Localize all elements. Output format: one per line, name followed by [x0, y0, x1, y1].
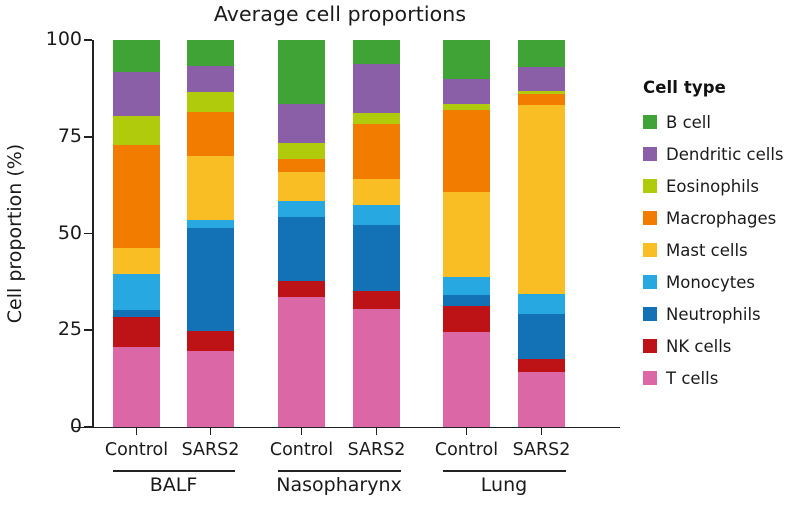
y-tick-label-wrap: 0 [0, 427, 82, 428]
bar-segment [187, 40, 234, 66]
x-tick-mark [210, 427, 212, 435]
stacked-bar [278, 40, 325, 427]
bar-segment [443, 79, 490, 104]
legend-item[interactable]: Mast cells [643, 234, 794, 266]
stacked-bar [443, 40, 490, 427]
bar-segment [353, 291, 400, 309]
bar-segment [353, 225, 400, 292]
bar-segment [278, 172, 325, 201]
x-tick-mark [376, 427, 378, 435]
bar-segment [113, 145, 160, 248]
bar-segment [443, 40, 490, 79]
y-tick-label: 0 [36, 417, 82, 436]
y-tick-label-wrap: 25 [0, 330, 82, 331]
bar-segment [518, 40, 565, 67]
bar-segment [443, 332, 490, 427]
legend-item-label: Macrophages [666, 209, 776, 228]
stacked-bar [187, 40, 234, 427]
bar-segment [113, 310, 160, 317]
x-tick-mark [136, 427, 138, 435]
bar-segment [113, 347, 160, 427]
bar-segment [353, 205, 400, 225]
legend-items: B cellDendritic cellsEosinophilsMacropha… [643, 106, 794, 394]
bar-segment [187, 156, 234, 220]
legend-swatch-icon [643, 275, 657, 289]
legend: Cell type B cellDendritic cellsEosinophi… [643, 78, 794, 394]
legend-item-label: B cell [666, 113, 711, 132]
bar-segment [443, 295, 490, 307]
y-tick-label: 50 [36, 224, 82, 243]
legend-item[interactable]: Neutrophils [643, 298, 794, 330]
bar-segment [353, 179, 400, 205]
bar-segment [278, 40, 325, 104]
legend-item-label: Eosinophils [666, 177, 759, 196]
bar-segment [113, 40, 160, 72]
bar-segment [278, 217, 325, 281]
legend-item-label: NK cells [666, 337, 731, 356]
group-label: Lung [404, 474, 604, 496]
stacked-bar [518, 40, 565, 427]
y-tick-mark [84, 136, 92, 138]
y-tick-mark [84, 233, 92, 235]
legend-swatch-icon [643, 339, 657, 353]
legend-swatch-icon [643, 147, 657, 161]
y-tick-mark [84, 426, 92, 428]
legend-item-label: T cells [666, 369, 718, 388]
legend-swatch-icon [643, 307, 657, 321]
legend-swatch-icon [643, 371, 657, 385]
group-rule [113, 470, 235, 472]
legend-swatch-icon [643, 179, 657, 193]
legend-item[interactable]: B cell [643, 106, 794, 138]
y-tick-label-wrap: 100 [0, 40, 82, 41]
x-tick-mark [301, 427, 303, 435]
group-rule [443, 470, 566, 472]
y-axis-line [92, 40, 94, 428]
bar-segment [278, 201, 325, 217]
bar-segment [278, 281, 325, 297]
bar-segment [187, 220, 234, 228]
legend-item[interactable]: Monocytes [643, 266, 794, 298]
legend-item-label: Mast cells [666, 241, 748, 260]
bar-segment [278, 297, 325, 427]
bar-segment [518, 294, 565, 313]
x-tick-mark [541, 427, 543, 435]
y-tick-mark [84, 329, 92, 331]
bar-segment [353, 113, 400, 125]
bar-segment [353, 309, 400, 427]
x-tick-mark [466, 427, 468, 435]
group-rule [278, 470, 401, 472]
y-tick-label-wrap: 50 [0, 234, 82, 235]
bar-segment [443, 110, 490, 192]
legend-item[interactable]: Dendritic cells [643, 138, 794, 170]
x-tick-label: SARS2 [487, 440, 597, 460]
legend-item[interactable]: Eosinophils [643, 170, 794, 202]
bar-segment [187, 351, 234, 427]
bar-segment [113, 72, 160, 116]
bar-segment [518, 359, 565, 373]
bar-segment [187, 112, 234, 156]
y-tick-label: 75 [36, 127, 82, 146]
legend-item[interactable]: NK cells [643, 330, 794, 362]
legend-swatch-icon [643, 115, 657, 129]
bar-segment [443, 192, 490, 278]
bar-segment [443, 306, 490, 331]
bar-segment [187, 66, 234, 92]
legend-swatch-icon [643, 243, 657, 257]
bar-segment [187, 331, 234, 351]
bar-segment [443, 277, 490, 295]
bar-segment [518, 314, 565, 359]
bar-segment [518, 94, 565, 106]
bar-segment [518, 105, 565, 294]
bar-segment [353, 64, 400, 113]
legend-item-label: Monocytes [666, 273, 755, 292]
legend-item-label: Dendritic cells [666, 145, 784, 164]
bar-segment [113, 248, 160, 275]
bar-segment [278, 143, 325, 159]
bar-segment [113, 274, 160, 309]
bar-segment [353, 40, 400, 64]
bar-segment [113, 317, 160, 347]
bar-segment [278, 159, 325, 173]
y-tick-label: 100 [36, 30, 82, 49]
legend-title: Cell type [643, 78, 794, 97]
bar-segment [518, 372, 565, 427]
bar-segment [353, 124, 400, 179]
y-tick-mark [84, 39, 92, 41]
stacked-bar [113, 40, 160, 427]
bar-segment [187, 228, 234, 330]
bar-segment [518, 67, 565, 90]
bar-segment [113, 116, 160, 145]
bar-segment [187, 92, 234, 112]
page-title: Average cell proportions [60, 2, 620, 26]
legend-item[interactable]: T cells [643, 362, 794, 394]
y-tick-label-wrap: 75 [0, 137, 82, 138]
bar-segment [278, 104, 325, 143]
chart-container: Average cell proportions Cell proportion… [0, 0, 794, 505]
legend-item[interactable]: Macrophages [643, 202, 794, 234]
legend-item-label: Neutrophils [666, 305, 761, 324]
stacked-bar [353, 40, 400, 427]
y-tick-label: 25 [36, 320, 82, 339]
legend-swatch-icon [643, 211, 657, 225]
